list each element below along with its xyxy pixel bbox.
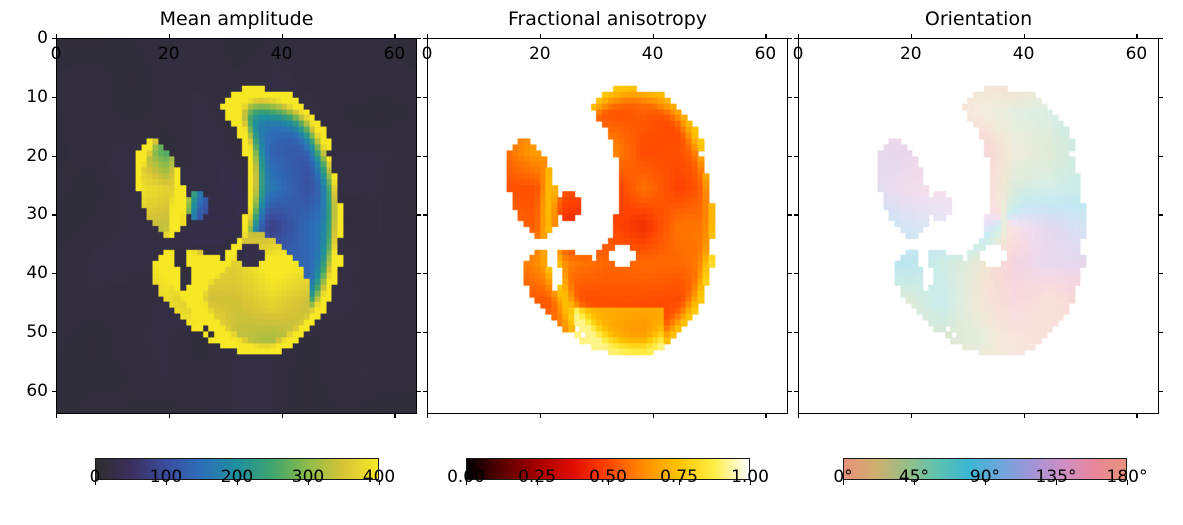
y-tick-right [788, 273, 792, 274]
figure-canvas: Mean amplitude 02040600102030405060 Frac… [0, 0, 1183, 525]
x-tick-label: 0 [422, 44, 433, 64]
x-tick-label: 40 [271, 44, 293, 64]
y-tick-label: 60 [26, 381, 48, 401]
x-tick-label: 0 [793, 44, 804, 64]
y-tick-label: 50 [26, 322, 48, 342]
x-tick-top [653, 34, 654, 38]
y-tick [423, 156, 427, 157]
y-tick-right [788, 38, 792, 39]
y-tick [794, 156, 798, 157]
y-tick-right [1159, 273, 1163, 274]
panel-mean-amplitude: Mean amplitude 02040600102030405060 [56, 38, 417, 414]
colorbar-tick-label: 1.00 [731, 467, 769, 487]
x-tick-top [765, 34, 766, 38]
y-tick-right [1159, 156, 1163, 157]
x-tick [394, 414, 395, 418]
y-tick-label: 10 [26, 87, 48, 107]
x-tick-label: 60 [384, 44, 406, 64]
x-tick-top [56, 34, 57, 38]
x-tick [282, 414, 283, 418]
y-tick [423, 97, 427, 98]
heatmap-orientation [799, 39, 1158, 413]
x-tick-top [427, 34, 428, 38]
y-tick [794, 273, 798, 274]
colorbar-tick-label: 0° [833, 467, 852, 487]
y-tick [52, 156, 56, 157]
y-tick-label: 0 [37, 28, 48, 48]
panel-fractional-anisotropy: Fractional anisotropy 0204060 [427, 38, 788, 414]
colorbar-orientation: 0°45°90°135°180° [843, 458, 1127, 480]
panel-title-mean-amplitude: Mean amplitude [56, 8, 417, 30]
x-tick-label: 40 [1013, 44, 1035, 64]
x-tick [765, 414, 766, 418]
y-tick [423, 273, 427, 274]
y-tick [794, 391, 798, 392]
y-tick [794, 214, 798, 215]
x-tick-label: 40 [642, 44, 664, 64]
y-tick [794, 97, 798, 98]
x-tick-top [1024, 34, 1025, 38]
panel-title-fractional-anisotropy: Fractional anisotropy [427, 8, 788, 30]
colorbar-tick-label: 0.75 [660, 467, 698, 487]
x-tick-label: 20 [529, 44, 551, 64]
y-tick [423, 332, 427, 333]
y-tick [423, 391, 427, 392]
x-tick-label: 60 [1126, 44, 1148, 64]
colorbar-tick-label: 0.25 [518, 467, 556, 487]
colorbar-tick-label: 200 [221, 467, 253, 487]
x-tick [798, 414, 799, 418]
x-tick-top [1136, 34, 1137, 38]
colorbar-tick-label: 90° [970, 467, 1000, 487]
x-tick [427, 414, 428, 418]
x-tick [540, 414, 541, 418]
colorbar-tick-label: 0.50 [589, 467, 627, 487]
y-tick-right [1159, 38, 1163, 39]
x-tick-top [798, 34, 799, 38]
y-tick-right [417, 332, 421, 333]
y-tick [794, 332, 798, 333]
x-tick-top [394, 34, 395, 38]
y-tick-right [788, 156, 792, 157]
y-tick-label: 20 [26, 146, 48, 166]
y-tick-label: 40 [26, 263, 48, 283]
heatmap-mean-amplitude [57, 39, 416, 413]
y-tick [423, 214, 427, 215]
colorbar-tick-label: 0 [90, 467, 101, 487]
x-tick [911, 414, 912, 418]
x-tick [653, 414, 654, 418]
y-tick-right [417, 97, 421, 98]
colorbar-tick-label: 100 [150, 467, 182, 487]
y-tick [52, 332, 56, 333]
y-tick-right [417, 391, 421, 392]
x-tick-top [282, 34, 283, 38]
y-tick-label: 30 [26, 204, 48, 224]
x-tick-top [911, 34, 912, 38]
y-tick-right [788, 97, 792, 98]
y-tick [794, 38, 798, 39]
x-tick [56, 414, 57, 418]
colorbar-mean-amplitude: 0100200300400 [95, 458, 379, 480]
colorbar-tick-label: 45° [899, 467, 929, 487]
y-tick [52, 97, 56, 98]
y-tick-right [417, 156, 421, 157]
y-tick [52, 391, 56, 392]
panel-title-orientation: Orientation [798, 8, 1159, 30]
x-tick-top [540, 34, 541, 38]
x-tick-label: 0 [51, 44, 62, 64]
x-tick-label: 60 [755, 44, 777, 64]
y-tick-right [1159, 332, 1163, 333]
colorbar-fractional-anisotropy: 0.000.250.500.751.00 [466, 458, 750, 480]
colorbar-tick-label: 135° [1036, 467, 1077, 487]
y-tick-right [1159, 214, 1163, 215]
y-tick [52, 214, 56, 215]
colorbar-tick-label: 0.00 [447, 467, 485, 487]
x-tick [169, 414, 170, 418]
axes-fractional-anisotropy [427, 38, 788, 414]
colorbar-tick-label: 300 [292, 467, 324, 487]
axes-mean-amplitude [56, 38, 417, 414]
y-tick-right [788, 332, 792, 333]
y-tick-right [417, 214, 421, 215]
y-tick-right [417, 273, 421, 274]
x-tick [1136, 414, 1137, 418]
y-tick-right [1159, 97, 1163, 98]
y-tick [52, 273, 56, 274]
y-tick-right [417, 38, 421, 39]
x-tick-top [169, 34, 170, 38]
y-tick-right [788, 391, 792, 392]
colorbar-tick-label: 180° [1107, 467, 1148, 487]
x-tick-label: 20 [900, 44, 922, 64]
x-tick [1024, 414, 1025, 418]
heatmap-fractional-anisotropy [428, 39, 787, 413]
axes-orientation [798, 38, 1159, 414]
panel-orientation: Orientation 0204060 [798, 38, 1159, 414]
y-tick [52, 38, 56, 39]
colorbar-tick-label: 400 [363, 467, 395, 487]
y-tick-right [788, 214, 792, 215]
y-tick [423, 38, 427, 39]
y-tick-right [1159, 391, 1163, 392]
x-tick-label: 20 [158, 44, 180, 64]
